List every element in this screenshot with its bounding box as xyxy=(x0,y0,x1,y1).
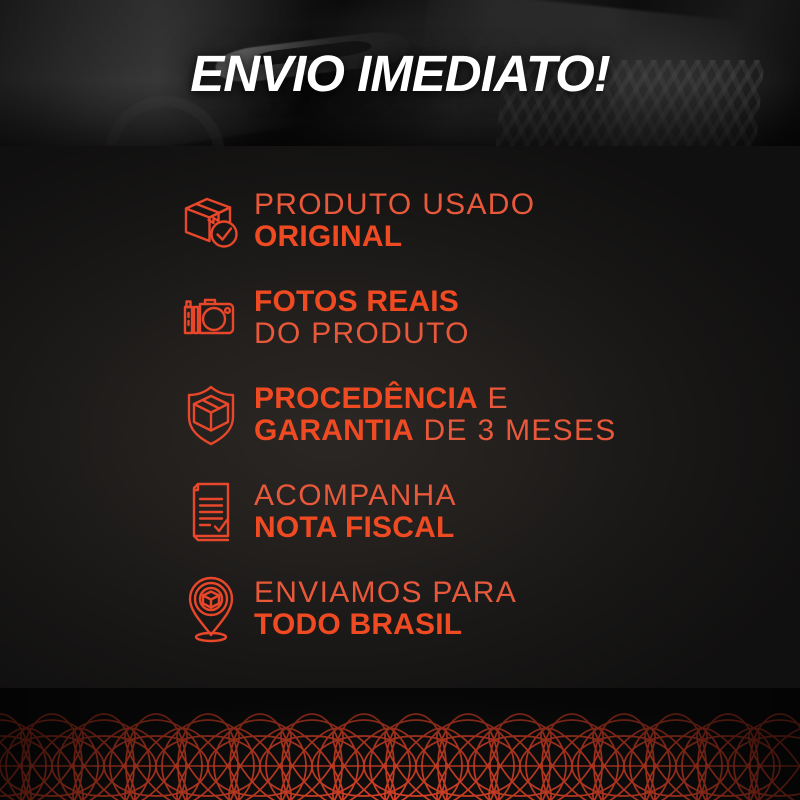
feature-item-todo-brasil: ENVIAMOS PARA TODO BRASIL xyxy=(168,560,788,657)
features-list: PRODUTO USADO ORIGINAL xyxy=(168,172,788,657)
features-section: PRODUTO USADO ORIGINAL xyxy=(0,146,800,706)
feature-item-produto-usado: PRODUTO USADO ORIGINAL xyxy=(168,172,788,269)
promo-banner: ENVIO IMEDIATO! xyxy=(0,0,800,800)
feature-line-1-light: E xyxy=(478,382,509,415)
feature-text: ACOMPANHA NOTA FISCAL xyxy=(254,480,457,542)
feature-item-nota-fiscal: ACOMPANHA NOTA FISCAL xyxy=(168,463,788,560)
feature-line-2: NOTA FISCAL xyxy=(254,512,457,543)
feature-line-2-text: TODO BRASIL xyxy=(254,608,462,641)
invoice-document-check-icon xyxy=(168,480,254,544)
hero-section: ENVIO IMEDIATO! xyxy=(0,0,800,146)
petal-lattice-svg xyxy=(0,688,800,800)
camera-icon xyxy=(168,291,254,345)
petal-lattice-border xyxy=(0,688,800,800)
feature-item-procedencia-garantia: PROCEDÊNCIA E GARANTIA DE 3 MESES xyxy=(168,366,788,463)
feature-text: ENVIAMOS PARA TODO BRASIL xyxy=(254,577,517,639)
feature-line-2-text: ORIGINAL xyxy=(254,220,402,253)
feature-line-2: DO PRODUTO xyxy=(254,318,470,349)
feature-line-1: ACOMPANHA xyxy=(254,480,457,511)
package-box-check-icon xyxy=(168,191,254,251)
feature-line-1: ENVIAMOS PARA xyxy=(254,577,517,608)
feature-line-1: PROCEDÊNCIA E xyxy=(254,383,617,414)
feature-line-1-text: ENVIAMOS PARA xyxy=(254,576,517,609)
feature-line-2-text: NOTA FISCAL xyxy=(254,511,455,544)
location-pin-box-icon xyxy=(168,574,254,644)
feature-line-2-text: DO PRODUTO xyxy=(254,317,470,350)
feature-text: PROCEDÊNCIA E GARANTIA DE 3 MESES xyxy=(254,383,617,445)
feature-line-1: FOTOS REAIS xyxy=(254,286,470,317)
feature-line-1-text: ACOMPANHA xyxy=(254,479,457,512)
feature-text: FOTOS REAIS DO PRODUTO xyxy=(254,286,470,348)
hero-title: ENVIO IMEDIATO! xyxy=(0,44,800,103)
feature-line-2: TODO BRASIL xyxy=(254,609,517,640)
feature-line-2: GARANTIA DE 3 MESES xyxy=(254,415,617,446)
feature-line-1-bold: PROCEDÊNCIA xyxy=(254,382,478,415)
feature-item-fotos-reais: FOTOS REAIS DO PRODUTO xyxy=(168,269,788,366)
shield-box-icon xyxy=(168,383,254,447)
feature-line-2: ORIGINAL xyxy=(254,221,535,252)
feature-line-2-light: DE 3 MESES xyxy=(414,414,617,447)
feature-line-1-text: PRODUTO USADO xyxy=(254,188,535,221)
feature-line-2-bold: GARANTIA xyxy=(254,414,414,447)
feature-line-1-text: FOTOS REAIS xyxy=(254,285,459,318)
feature-line-1: PRODUTO USADO xyxy=(254,189,535,220)
feature-text: PRODUTO USADO ORIGINAL xyxy=(254,189,535,251)
